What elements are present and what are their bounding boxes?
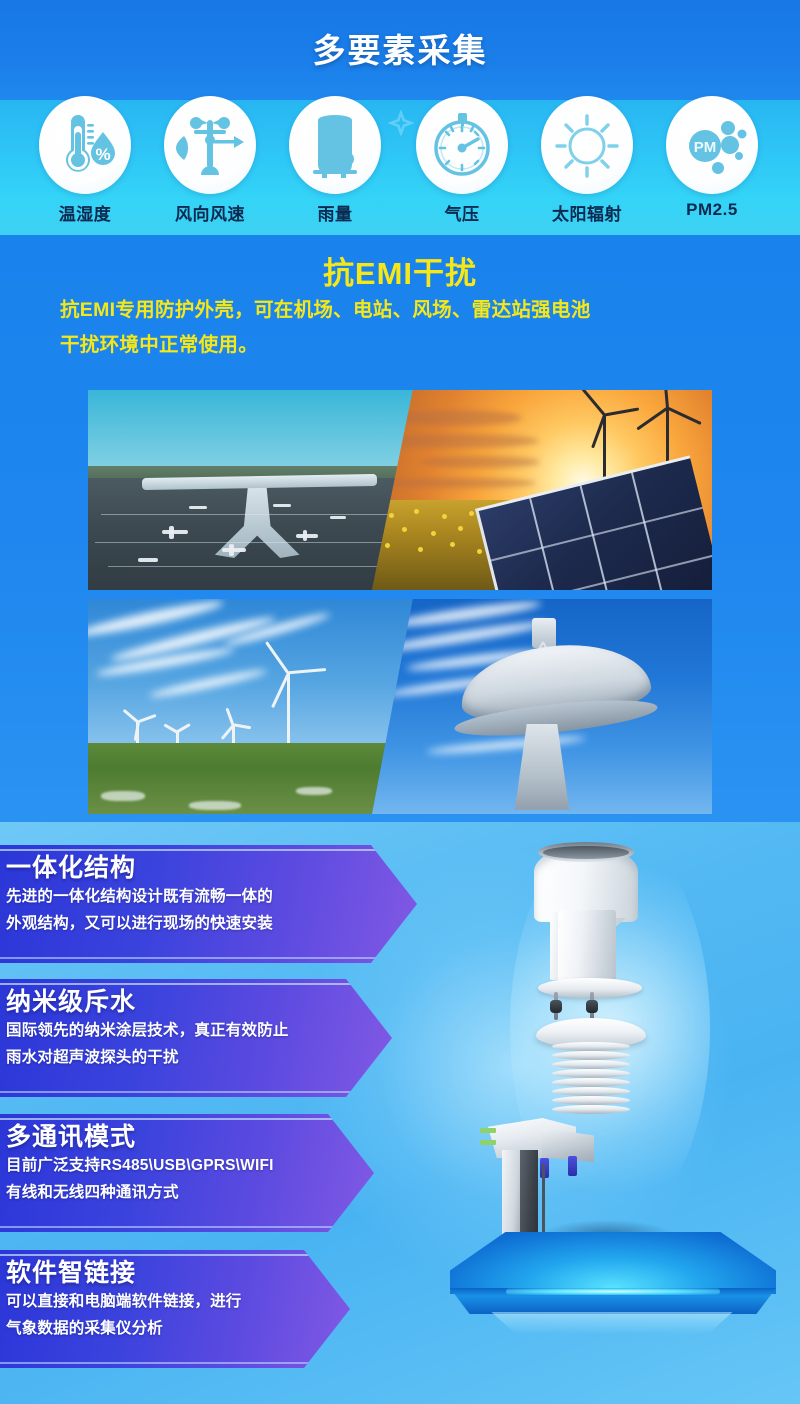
sensor-item-pm25[interactable]: PM PM2.5 xyxy=(653,96,771,220)
banner-line-1: 目前广泛支持RS485\USB\GPRS\WIFI xyxy=(6,1152,316,1179)
sensor-item-label: 气压 xyxy=(403,200,521,225)
icon-disc: PM xyxy=(666,96,758,194)
collect-section-title: 多要素采集 xyxy=(0,24,800,72)
photo-collage-row-1 xyxy=(88,390,712,590)
features-section: 一体化结构 先进的一体化结构设计既有流畅一体的 外观结构，又可以进行现场的快速安… xyxy=(0,822,800,1404)
sensor-item-wind[interactable]: 风向风速 xyxy=(151,96,269,225)
banner-title: 多通讯模式 xyxy=(6,1122,316,1152)
airport-photo xyxy=(88,390,424,590)
sensor-item-label: 风向风速 xyxy=(151,200,269,225)
sensor-item-label: 雨量 xyxy=(276,200,394,225)
photo-collage-row-2 xyxy=(88,599,712,814)
device-neck xyxy=(558,910,616,984)
icon-disc xyxy=(541,96,633,194)
banner-line-1: 国际领先的纳米涂层技术，真正有效防止 xyxy=(6,1017,334,1044)
anemometer-wind-vane-icon xyxy=(164,96,256,194)
sensor-item-label: 温湿度 xyxy=(26,200,144,225)
pm25-particles-icon: PM xyxy=(666,96,758,194)
multi-element-collection-section: 多要素采集 xyxy=(0,0,800,235)
banner-line-2: 外观结构，又可以进行现场的快速安装 xyxy=(6,910,359,937)
radar-dish-photo xyxy=(372,599,712,814)
banner-line-1: 先进的一体化结构设计既有流畅一体的 xyxy=(6,883,359,910)
sensor-icon-row: % 温湿度 xyxy=(0,96,800,235)
sun-radiation-icon xyxy=(541,96,633,194)
banner-title: 纳米级斥水 xyxy=(6,987,334,1017)
product-detail-page: 多要素采集 xyxy=(0,0,800,1404)
feature-banner-nano-water-repellent[interactable]: 纳米级斥水 国际领先的纳米涂层技术，真正有效防止 雨水对超声波探头的干扰 xyxy=(0,979,392,1097)
sensor-item-solar-radiation[interactable]: 太阳辐射 xyxy=(528,96,646,225)
sensor-item-label: 太阳辐射 xyxy=(528,200,646,225)
sensor-item-label: PM2.5 xyxy=(653,200,771,220)
sensor-item-rain[interactable]: 雨量 xyxy=(276,96,394,225)
banner-line-2: 气象数据的采集仪分析 xyxy=(6,1315,292,1342)
feature-banner-multi-communication[interactable]: 多通讯模式 目前广泛支持RS485\USB\GPRS\WIFI 有线和无线四种通… xyxy=(0,1114,374,1232)
thermometer-humidity-icon: % xyxy=(39,96,131,194)
rain-gauge-icon xyxy=(289,96,381,194)
weather-station-device xyxy=(480,828,740,1298)
banner-line-1: 可以直接和电脑端软件链接，进行 xyxy=(6,1288,292,1315)
emi-body-line-1: 抗EMI专用防护外壳，可在机场、电站、风场、雷达站强电池 xyxy=(60,293,760,328)
emi-body-line-2: 干扰环境中正常使用。 xyxy=(60,328,760,363)
anti-emi-section: 抗EMI干扰 抗EMI专用防护外壳，可在机场、电站、风场、雷达站强电池 干扰环境… xyxy=(0,235,800,822)
emi-section-title: 抗EMI干扰 xyxy=(0,248,800,293)
wind-farm-photo xyxy=(88,599,424,814)
solar-sunflower-sunset-photo xyxy=(372,390,712,590)
barometer-dial-icon xyxy=(416,96,508,194)
feature-banner-software-link[interactable]: 软件智链接 可以直接和电脑端软件链接，进行 气象数据的采集仪分析 xyxy=(0,1250,350,1368)
svg-text:%: % xyxy=(95,145,110,164)
banner-title: 一体化结构 xyxy=(6,853,359,883)
sensor-item-pressure[interactable]: 气压 xyxy=(403,96,521,225)
icon-disc xyxy=(164,96,256,194)
radiation-shield xyxy=(552,1042,630,1118)
display-pedestal xyxy=(450,1232,776,1328)
cable-connector xyxy=(568,1156,577,1176)
banner-line-2: 有线和无线四种通讯方式 xyxy=(6,1179,316,1206)
emi-section-body: 抗EMI专用防护外壳，可在机场、电站、风场、雷达站强电池 干扰环境中正常使用。 xyxy=(60,293,760,363)
icon-disc xyxy=(416,96,508,194)
sensor-item-temp-humidity[interactable]: % 温湿度 xyxy=(26,96,144,225)
feature-banner-integrated-structure[interactable]: 一体化结构 先进的一体化结构设计既有流畅一体的 外观结构，又可以进行现场的快速安… xyxy=(0,845,417,963)
banner-line-2: 雨水对超声波探头的干扰 xyxy=(6,1044,334,1071)
icon-disc: % xyxy=(39,96,131,194)
pm-badge-text: PM xyxy=(694,139,717,156)
icon-disc xyxy=(289,96,381,194)
banner-title: 软件智链接 xyxy=(6,1258,292,1288)
